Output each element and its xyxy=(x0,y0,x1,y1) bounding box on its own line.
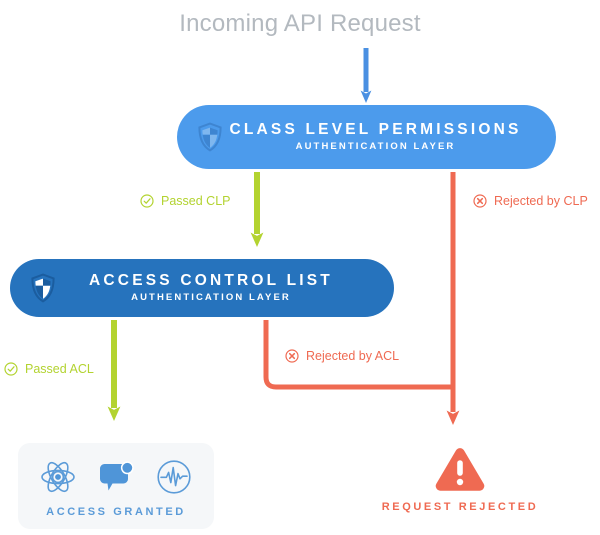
node-acl-title: ACCESS CONTROL LIST xyxy=(62,272,360,290)
request-rejected-label: REQUEST REJECTED xyxy=(360,501,560,513)
chat-bubble-icon xyxy=(98,461,134,493)
node-clp-text: CLASS LEVEL PERMISSIONS AUTHENTICATION L… xyxy=(229,121,556,153)
access-granted-icon-group xyxy=(18,457,214,497)
node-acl-text: ACCESS CONTROL LIST AUTHENTICATION LAYER xyxy=(62,272,394,304)
edge-label-rejected-clp-text: Rejected by CLP xyxy=(494,195,588,208)
edge-label-passed-acl-text: Passed ACL xyxy=(25,363,94,376)
edge-label-rejected-clp: Rejected by CLP xyxy=(473,194,588,208)
edge-label-passed-acl: Passed ACL xyxy=(4,362,94,376)
edge-label-passed-clp: Passed CLP xyxy=(140,194,230,208)
node-access-control-list[interactable]: ACCESS CONTROL LIST AUTHENTICATION LAYER xyxy=(10,259,394,317)
edge-label-rejected-acl-text: Rejected by ACL xyxy=(306,350,399,363)
atom-icon xyxy=(40,459,76,495)
node-clp-subtitle: AUTHENTICATION LAYER xyxy=(229,141,522,153)
pulse-analytics-icon xyxy=(156,459,192,495)
node-access-granted[interactable]: ACCESS GRANTED xyxy=(18,443,214,529)
node-acl-subtitle: AUTHENTICATION LAYER xyxy=(62,292,360,304)
shield-icon xyxy=(30,273,56,303)
edge-label-passed-clp-text: Passed CLP xyxy=(161,195,230,208)
x-circle-icon xyxy=(285,349,299,363)
shield-icon xyxy=(197,122,223,152)
access-granted-label: ACCESS GRANTED xyxy=(18,506,214,518)
check-circle-icon xyxy=(140,194,154,208)
x-circle-icon xyxy=(473,194,487,208)
warning-triangle-icon xyxy=(434,446,486,494)
check-circle-icon xyxy=(4,362,18,376)
node-class-level-permissions[interactable]: CLASS LEVEL PERMISSIONS AUTHENTICATION L… xyxy=(177,105,556,169)
page-title: Incoming API Request xyxy=(0,10,600,38)
node-clp-title: CLASS LEVEL PERMISSIONS xyxy=(229,121,522,139)
edge-label-rejected-acl: Rejected by ACL xyxy=(285,349,399,363)
